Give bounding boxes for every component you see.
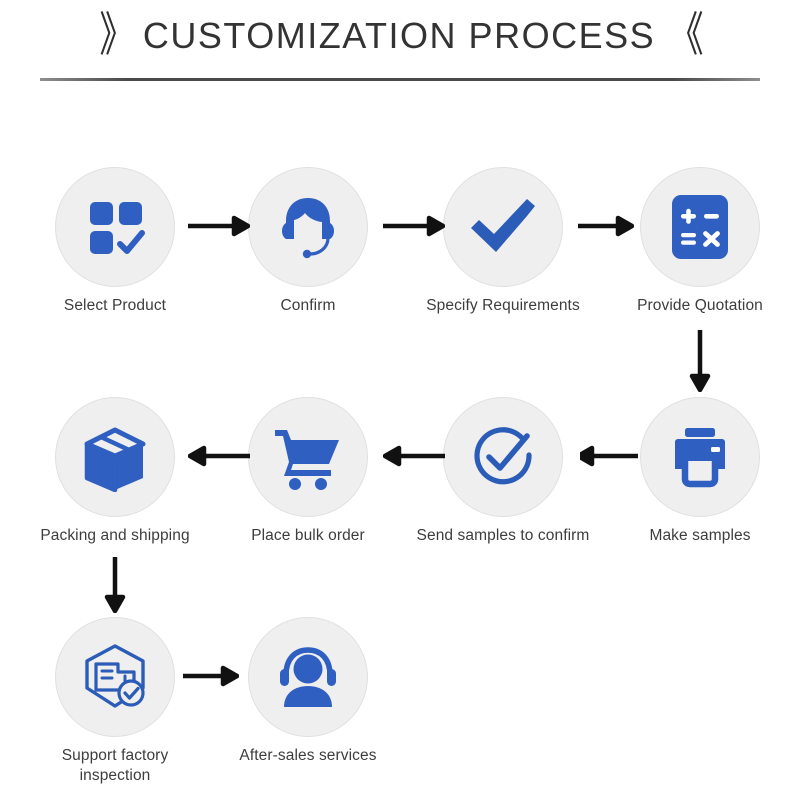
support-person-icon xyxy=(273,645,343,709)
step-label: Confirm xyxy=(218,296,398,316)
package-box-icon xyxy=(79,422,151,492)
step-icon-bubble xyxy=(443,397,563,517)
step-icon-bubble xyxy=(443,167,563,287)
step-label: Packing and shipping xyxy=(25,526,205,546)
flow-step-specify-requirements[interactable]: Specify Requirements xyxy=(413,167,593,316)
connector-arrow-packing-to-inspection xyxy=(103,557,127,613)
checkmark-icon xyxy=(467,194,539,260)
connector-arrow-inspection-to-after-sales xyxy=(183,665,239,687)
connector-arrow-make-samples-to-send-samples xyxy=(580,445,638,467)
step-icon-bubble xyxy=(248,397,368,517)
connector-arrow-confirm-to-specify xyxy=(383,215,445,237)
connector-arrow-bulk-order-to-packing xyxy=(188,445,250,467)
flow-step-provide-quotation[interactable]: Provide Quotation xyxy=(610,167,790,316)
shopping-cart-icon xyxy=(271,424,345,490)
step-icon-bubble xyxy=(640,167,760,287)
step-label: Support factory inspection xyxy=(25,746,205,786)
step-icon-bubble xyxy=(248,167,368,287)
flow-step-factory-inspection[interactable]: Support factory inspection xyxy=(25,617,205,786)
step-icon-bubble xyxy=(55,617,175,737)
step-icon-bubble xyxy=(55,167,175,287)
flow-step-select-product[interactable]: Select Product xyxy=(25,167,205,316)
flow-step-confirm[interactable]: Confirm xyxy=(218,167,398,316)
flow-step-place-bulk-order[interactable]: Place bulk order xyxy=(218,397,398,546)
flow-step-send-samples[interactable]: Send samples to confirm xyxy=(413,397,593,546)
headset-agent-icon xyxy=(274,193,342,261)
flow-step-make-samples[interactable]: Make samples xyxy=(610,397,790,546)
step-label: After-sales services xyxy=(218,746,398,766)
connector-arrow-quotation-to-make-samples xyxy=(688,330,712,392)
connector-arrow-send-samples-to-bulk-order xyxy=(383,445,445,467)
step-label: Make samples xyxy=(610,526,790,546)
step-label: Place bulk order xyxy=(218,526,398,546)
connector-arrow-specify-to-quotation xyxy=(578,215,634,237)
step-icon-bubble xyxy=(248,617,368,737)
calculator-icon xyxy=(669,192,731,262)
connector-arrow-select-product-to-confirm xyxy=(188,215,250,237)
step-label: Send samples to confirm xyxy=(413,526,593,546)
grid-check-icon xyxy=(82,194,148,260)
step-label: Select Product xyxy=(25,296,205,316)
step-label: Provide Quotation xyxy=(610,296,790,316)
shield-factory-check-icon xyxy=(80,642,150,712)
flow-step-after-sales[interactable]: After-sales services xyxy=(218,617,398,766)
process-flow: Select Product Confirm Specify Requireme… xyxy=(0,0,800,800)
step-icon-bubble xyxy=(640,397,760,517)
printer-icon xyxy=(665,425,735,489)
step-icon-bubble xyxy=(55,397,175,517)
circle-check-icon xyxy=(467,421,539,493)
flow-step-packing-shipping[interactable]: Packing and shipping xyxy=(25,397,205,546)
step-label: Specify Requirements xyxy=(413,296,593,316)
